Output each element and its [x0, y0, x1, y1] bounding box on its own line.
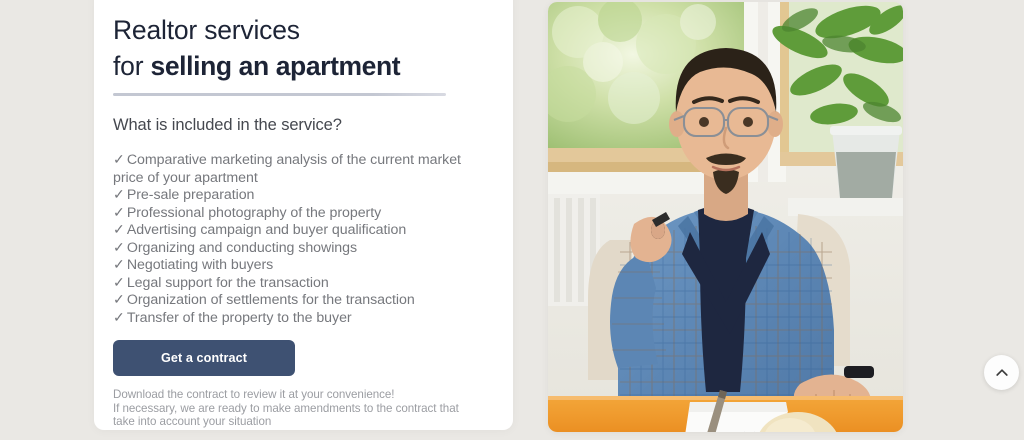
list-item-label: Transfer of the property to the buyer [127, 310, 352, 326]
check-icon: ✓ [113, 222, 125, 238]
title-line-2-strong: selling an apartment [151, 51, 401, 81]
list-item-label: Negotiating with buyers [127, 257, 273, 273]
check-icon: ✓ [113, 187, 125, 203]
list-item: ✓Comparative marketing analysis of the c… [113, 152, 471, 187]
check-icon: ✓ [113, 240, 125, 256]
list-item: ✓Negotiating with buyers [113, 257, 471, 275]
contract-note-line-1: Download the contract to review it at yo… [113, 388, 463, 402]
chevron-up-icon [994, 365, 1010, 381]
contract-note-line-2: If necessary, we are ready to make amend… [113, 402, 463, 416]
check-icon: ✓ [113, 257, 125, 273]
card-content: Realtor services for selling an apartmen… [113, 12, 483, 327]
realtor-photo [548, 2, 903, 432]
list-item-label: Advertising campaign and buyer qualifica… [127, 222, 406, 238]
scroll-to-top-button[interactable] [984, 355, 1019, 390]
list-item: ✓Pre-sale preparation [113, 187, 471, 205]
check-icon: ✓ [113, 275, 125, 291]
contract-note-line-3: take into account your situation [113, 415, 463, 429]
list-item: ✓Transfer of the property to the buyer [113, 310, 471, 328]
check-icon: ✓ [113, 310, 125, 326]
page-title: Realtor services for selling an apartmen… [113, 12, 483, 84]
title-line-2-prefix: for [113, 51, 151, 81]
list-item: ✓Legal support for the transaction [113, 275, 471, 293]
realtor-photo-illustration [548, 2, 903, 432]
list-item-label: Organizing and conducting showings [127, 240, 357, 256]
included-services-list: ✓Comparative marketing analysis of the c… [113, 152, 483, 327]
section-subtitle: What is included in the service? [113, 114, 483, 136]
title-line-2: for selling an apartment [113, 48, 483, 84]
list-item-label: Pre-sale preparation [127, 187, 255, 203]
list-item: ✓Professional photography of the propert… [113, 205, 471, 223]
service-card: Realtor services for selling an apartmen… [94, 0, 513, 430]
list-item: ✓Organizing and conducting showings [113, 240, 471, 258]
check-icon: ✓ [113, 152, 125, 168]
get-a-contract-button[interactable]: Get a contract [113, 340, 295, 376]
page-root: Realtor services for selling an apartmen… [0, 0, 1024, 440]
list-item-label: Professional photography of the property [127, 205, 381, 221]
list-item-label: Legal support for the transaction [127, 275, 329, 291]
check-icon: ✓ [113, 292, 125, 308]
check-icon: ✓ [113, 205, 125, 221]
title-divider [113, 93, 446, 96]
list-item: ✓Organization of settlements for the tra… [113, 292, 471, 310]
title-line-1: Realtor services [113, 15, 300, 45]
list-item-label: Comparative marketing analysis of the cu… [113, 152, 461, 186]
list-item: ✓Advertising campaign and buyer qualific… [113, 222, 471, 240]
list-item-label: Organization of settlements for the tran… [127, 292, 415, 308]
contract-note: Download the contract to review it at yo… [113, 388, 463, 429]
